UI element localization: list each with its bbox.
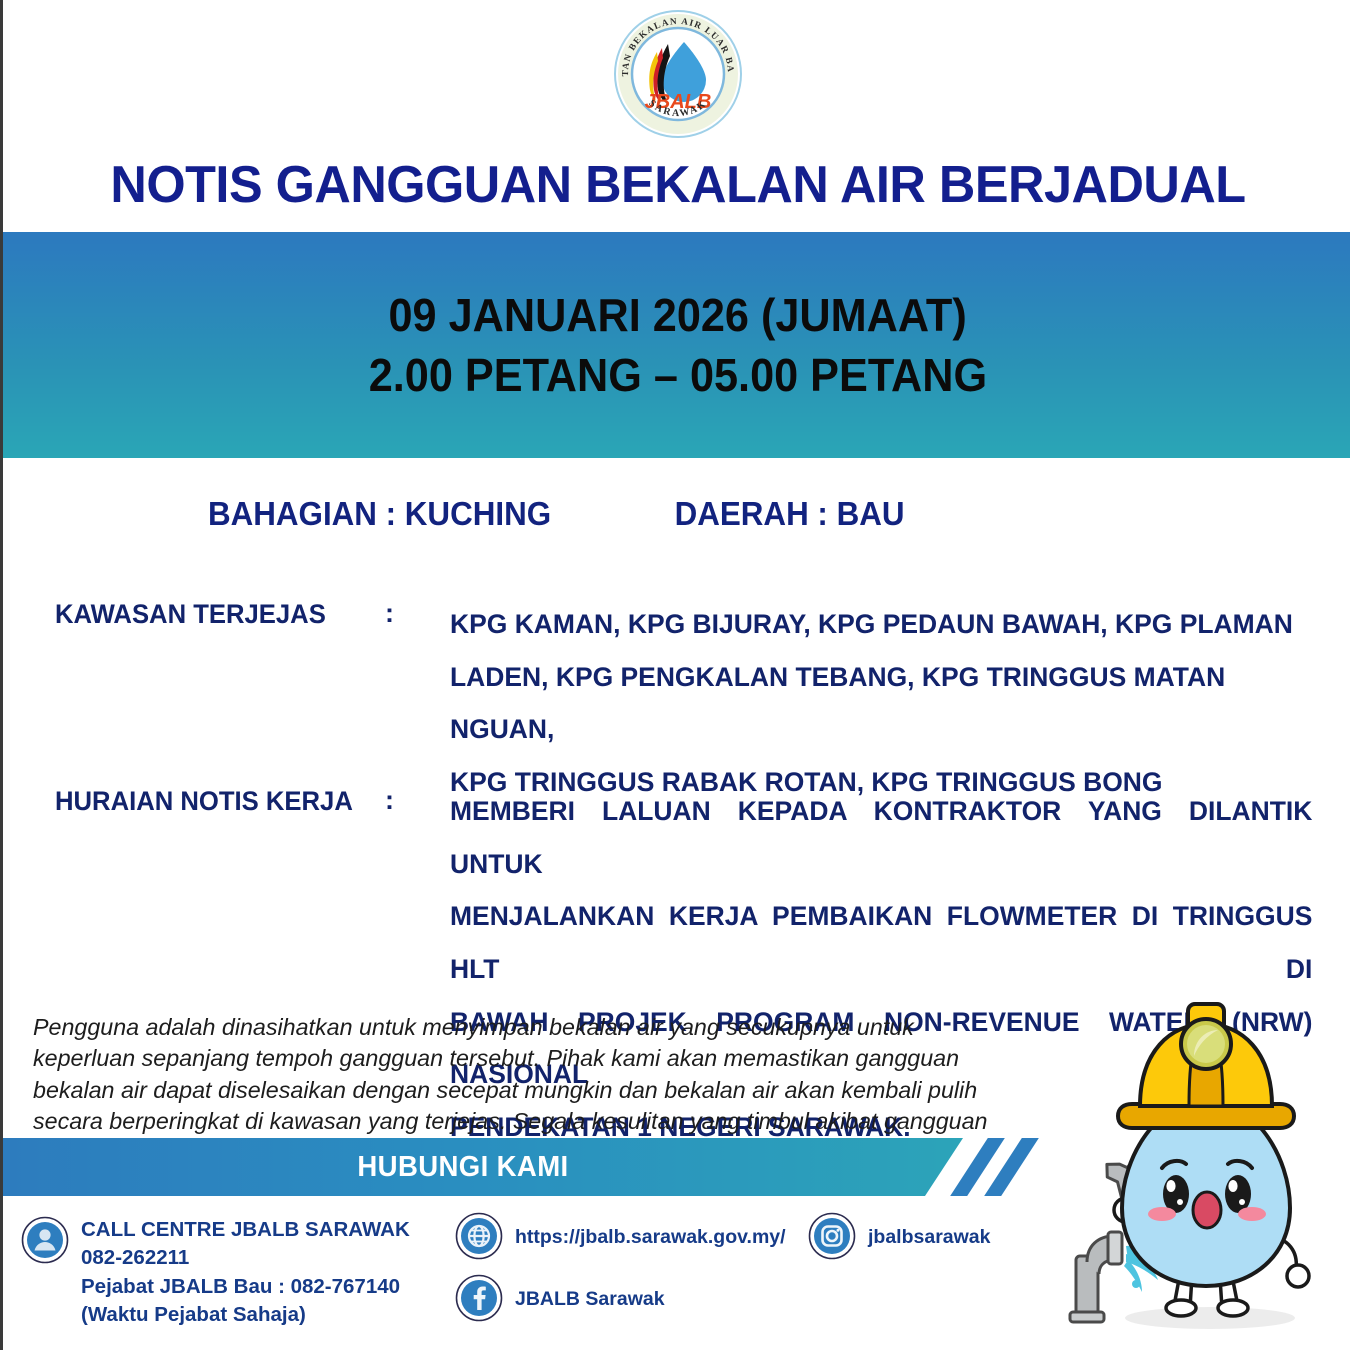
facebook-item[interactable]: JBALB Sarawak bbox=[455, 1274, 665, 1322]
call-centre-line-1: CALL CENTRE JBALB SARAWAK bbox=[81, 1216, 410, 1244]
contact-details: CALL CENTRE JBALB SARAWAK 082-262211 Pej… bbox=[3, 1212, 1063, 1350]
website-label[interactable]: https://jbalb.sarawak.gov.my/ bbox=[515, 1224, 786, 1251]
instagram-label[interactable]: jbalbsarawak bbox=[868, 1224, 990, 1251]
affected-areas-line: KPG KAMAN, KPG BIJURAY, KPG PEDAUN BAWAH… bbox=[450, 598, 1312, 651]
work-description-line: MEMBERI LALUAN KEPADA KONTRAKTOR YANG DI… bbox=[450, 785, 1312, 890]
logo-container: JBALB JABATAN BEKALAN AIR LUAR BANDAR SA… bbox=[3, 8, 1350, 148]
person-icon bbox=[21, 1216, 69, 1264]
globe-icon[interactable] bbox=[455, 1212, 503, 1260]
page-title: NOTIS GANGGUAN BEKALAN AIR BERJADUAL bbox=[23, 155, 1333, 215]
call-centre-item: CALL CENTRE JBALB SARAWAK 082-262211 Pej… bbox=[21, 1216, 410, 1329]
call-centre-text: CALL CENTRE JBALB SARAWAK 082-262211 Pej… bbox=[81, 1216, 410, 1329]
division-label: BAHAGIAN : KUCHING bbox=[208, 495, 551, 533]
affected-areas-line: LADEN, KPG PENGKALAN TEBANG, KPG TRINGGU… bbox=[450, 651, 1312, 756]
affected-areas-block: KAWASAN TERJEJAS : KPG KAMAN, KPG BIJURA… bbox=[55, 598, 1330, 809]
work-description-line: MENJALANKAN KERJA PEMBAIKAN FLOWMETER DI… bbox=[450, 890, 1312, 995]
facebook-label[interactable]: JBALB Sarawak bbox=[515, 1286, 665, 1313]
jbalb-logo: JBALB JABATAN BEKALAN AIR LUAR BANDAR SA… bbox=[612, 8, 744, 140]
notice-page: JBALB JABATAN BEKALAN AIR LUAR BANDAR SA… bbox=[0, 0, 1350, 1350]
schedule-date: 09 JANUARI 2026 (JUMAAT) bbox=[389, 288, 967, 342]
call-centre-line-4: (Waktu Pejabat Sahaja) bbox=[81, 1301, 410, 1329]
call-centre-line-3: Pejabat JBALB Bau : 082-767140 bbox=[81, 1273, 410, 1301]
district-label: DAERAH : BAU bbox=[675, 495, 905, 533]
water-droplet-mascot bbox=[1058, 988, 1348, 1350]
contact-banner-label: HUBUNGI KAMI bbox=[26, 1138, 900, 1196]
call-centre-line-2: 082-262211 bbox=[81, 1244, 410, 1272]
affected-areas-colon: : bbox=[385, 598, 450, 629]
schedule-time: 2.00 PETANG – 05.00 PETANG bbox=[369, 348, 987, 402]
schedule-banner: 09 JANUARI 2026 (JUMAAT) 2.00 PETANG – 0… bbox=[3, 232, 1350, 458]
affected-areas-value: KPG KAMAN, KPG BIJURAY, KPG PEDAUN BAWAH… bbox=[450, 598, 1312, 809]
website-item[interactable]: https://jbalb.sarawak.gov.my/ bbox=[455, 1212, 786, 1260]
work-description-colon: : bbox=[385, 785, 450, 816]
instagram-icon[interactable] bbox=[808, 1212, 856, 1260]
facebook-icon[interactable] bbox=[455, 1274, 503, 1322]
contact-banner: HUBUNGI KAMI bbox=[3, 1138, 1013, 1196]
location-row: BAHAGIAN : KUCHING DAERAH : BAU bbox=[208, 495, 1063, 533]
work-description-label: HURAIAN NOTIS KERJA bbox=[55, 785, 369, 817]
affected-areas-label: KAWASAN TERJEJAS bbox=[55, 598, 369, 630]
instagram-item[interactable]: jbalbsarawak bbox=[808, 1212, 990, 1260]
